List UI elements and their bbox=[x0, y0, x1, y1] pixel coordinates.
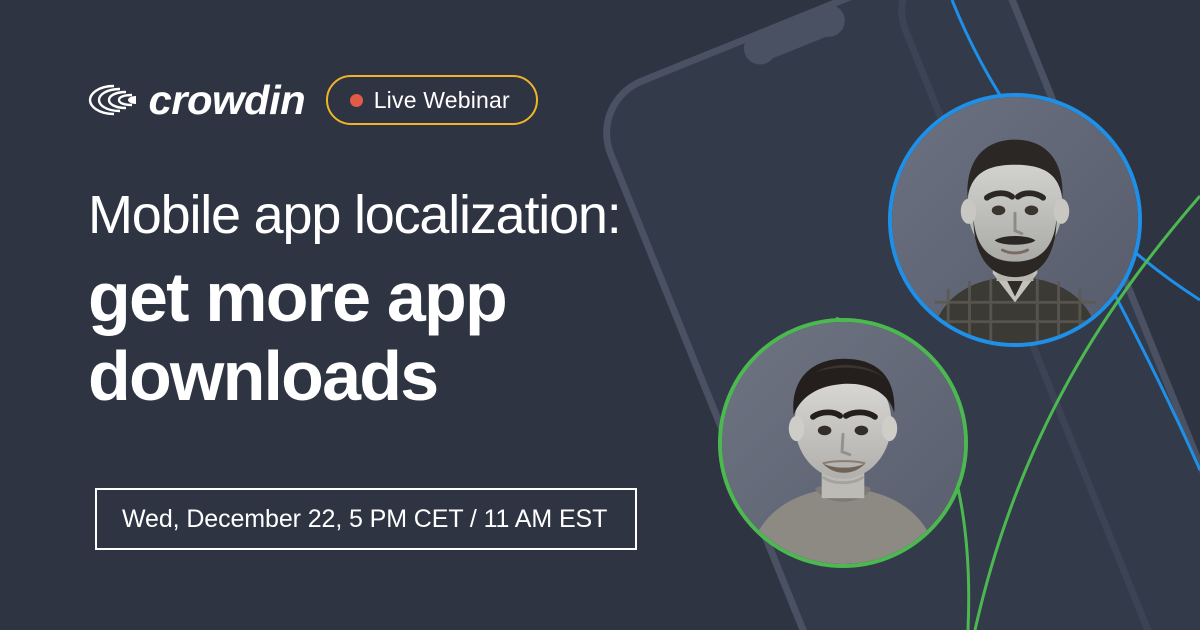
schedule-box: Wed, December 22, 5 PM CET / 11 AM EST bbox=[95, 488, 637, 550]
speaker-two-avatar bbox=[718, 318, 968, 568]
headline-line-2: downloads bbox=[88, 337, 788, 416]
live-webinar-badge: Live Webinar bbox=[326, 75, 538, 125]
speaker-one-avatar bbox=[888, 93, 1142, 347]
speaker-one-photo bbox=[892, 97, 1138, 343]
live-red-dot-icon bbox=[350, 94, 363, 107]
headline-line-1: get more app bbox=[88, 258, 788, 337]
headline-subtitle: Mobile app localization: bbox=[88, 186, 788, 244]
live-webinar-label: Live Webinar bbox=[374, 87, 510, 114]
brand-header: crowdin Live Webinar bbox=[88, 72, 538, 128]
headline-block: Mobile app localization: get more app do… bbox=[88, 186, 788, 417]
webinar-banner: crowdin Live Webinar Mobile app localiza… bbox=[0, 0, 1200, 630]
speaker-two-photo bbox=[722, 322, 964, 564]
crowdin-wordmark: crowdin bbox=[148, 80, 305, 121]
schedule-datetime-text: Wed, December 22, 5 PM CET / 11 AM EST bbox=[97, 505, 607, 534]
crowdin-swirl-logo-icon bbox=[88, 80, 144, 120]
